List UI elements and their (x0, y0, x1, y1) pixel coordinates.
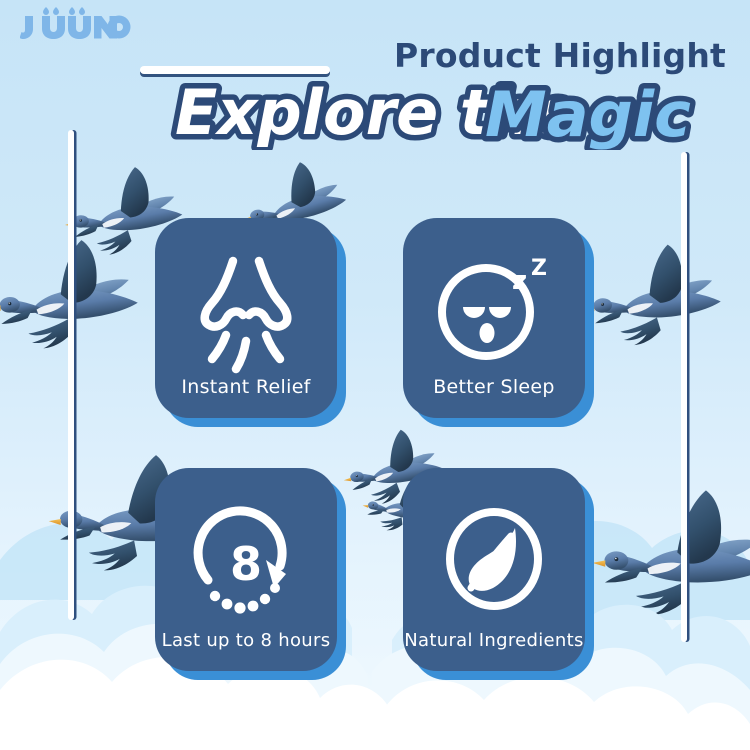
feature-card-better-sleep[interactable]: z Z Better Sleep (403, 218, 585, 418)
left-vertical-rule (68, 130, 74, 620)
feature-card-label: Instant Relief (155, 376, 337, 398)
clock-arrow-8-icon: 8 (182, 492, 310, 626)
hours-value: 8 (230, 537, 262, 591)
nose-breathing-icon (186, 244, 306, 380)
right-vertical-rule (681, 152, 687, 642)
sleeping-face-icon: z Z (431, 244, 557, 380)
svg-text:Z: Z (531, 256, 547, 281)
header-divider (140, 66, 330, 74)
poster-canvas: JÜÜNO Product Highlight Explore the Expl… (0, 0, 750, 750)
page-kicker: Product Highlight (394, 36, 726, 75)
bird-flock (0, 155, 750, 617)
feature-card-natural-ingredients[interactable]: Natural Ingredients (403, 468, 585, 671)
feature-card-label: Natural Ingredients (403, 630, 585, 651)
page-title: Explore the Explore the Magic Magic (0, 78, 750, 140)
brand-logo[interactable]: JÜÜNO (20, 6, 135, 42)
title-magic: Magic (485, 78, 691, 150)
feature-card-label: Better Sleep (403, 376, 585, 398)
leaf-circle-icon (431, 492, 557, 626)
cloud-layers (0, 586, 750, 750)
feature-card-label: Last up to 8 hours (155, 630, 337, 651)
feature-card-instant-relief[interactable]: Instant Relief (155, 218, 337, 418)
svg-text:z: z (512, 266, 527, 296)
feature-card-eight-hours[interactable]: 8 Last up to 8 hours (155, 468, 337, 671)
